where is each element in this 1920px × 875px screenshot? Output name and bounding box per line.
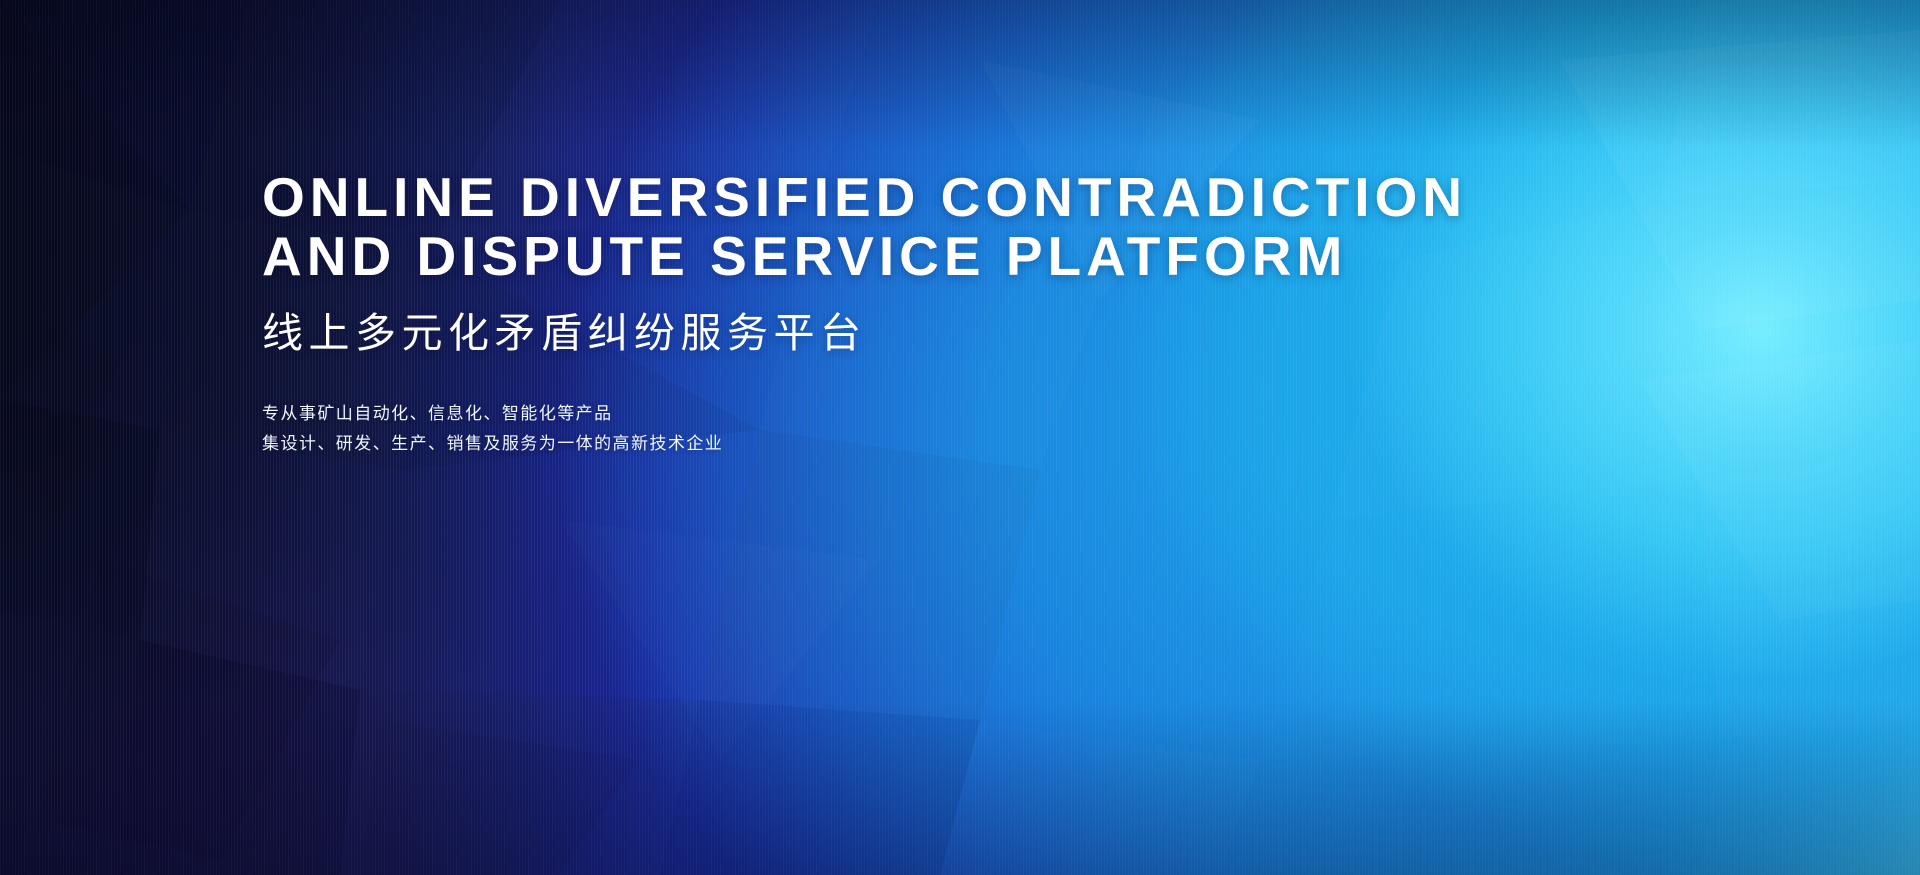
hero-content: ONLINE DIVERSIFIED CONTRADICTION AND DIS…: [262, 168, 1382, 459]
hero-title-chinese: 线上多元化矛盾纠纷服务平台: [262, 309, 1382, 357]
hero-title-english-line-2: AND DISPUTE SERVICE PLATFORM: [262, 227, 1382, 286]
hero-title-english: ONLINE DIVERSIFIED CONTRADICTION AND DIS…: [262, 168, 1382, 286]
hero-title-english-line-1: ONLINE DIVERSIFIED CONTRADICTION: [262, 168, 1382, 227]
hero-description-line-2: 集设计、研发、生产、销售及服务为一体的高新技术企业: [262, 429, 1382, 459]
hero-description-line-1: 专从事矿山自动化、信息化、智能化等产品: [262, 399, 1382, 429]
hero-banner: ONLINE DIVERSIFIED CONTRADICTION AND DIS…: [0, 0, 1920, 875]
hero-description: 专从事矿山自动化、信息化、智能化等产品 集设计、研发、生产、销售及服务为一体的高…: [262, 399, 1382, 459]
